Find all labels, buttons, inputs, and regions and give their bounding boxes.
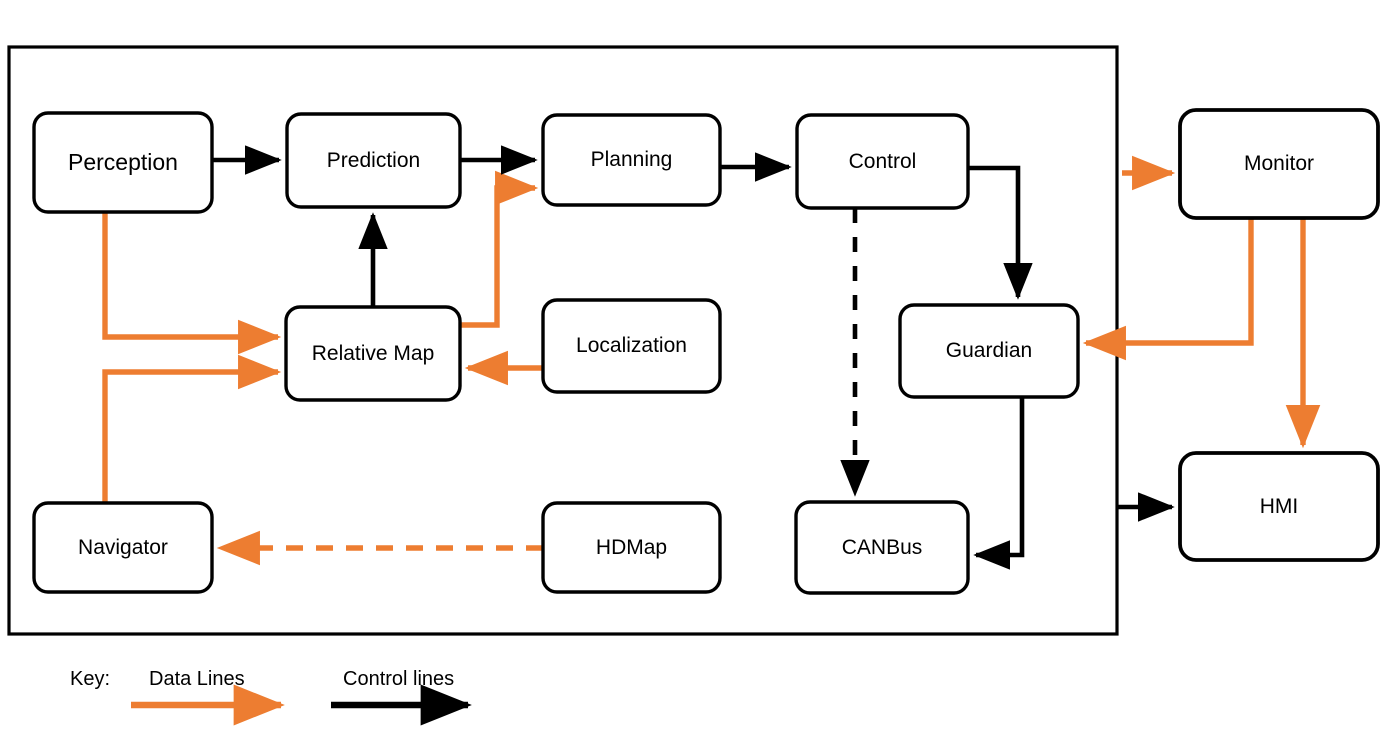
node-box-monitor[interactable] (1180, 110, 1378, 218)
edge-control-to-guardian (968, 168, 1018, 297)
edge-guardian-to-canbus (976, 397, 1022, 555)
node-box-control[interactable] (797, 115, 968, 208)
node-boxes (34, 110, 1378, 593)
diagram-canvas: Perception Prediction Planning Control M… (0, 0, 1398, 730)
edge-relative-map-to-planning (460, 188, 535, 325)
node-box-guardian[interactable] (900, 305, 1078, 397)
diagram-svg (0, 0, 1398, 730)
legend-control-lines-label: Control lines (343, 668, 454, 691)
node-box-prediction[interactable] (287, 114, 460, 207)
node-box-hdmap[interactable] (543, 503, 720, 592)
legend-data-lines-label: Data Lines (149, 668, 245, 691)
edge-navigator-to-relative-map (105, 372, 278, 503)
node-box-canbus[interactable] (796, 502, 968, 593)
node-box-perception[interactable] (34, 113, 212, 212)
node-box-hmi[interactable] (1180, 453, 1378, 560)
node-box-navigator[interactable] (34, 503, 212, 592)
node-box-relative-map[interactable] (286, 307, 460, 400)
edge-monitor-to-guardian (1086, 218, 1251, 343)
node-box-localization[interactable] (543, 300, 720, 392)
legend-key-label: Key: (70, 668, 110, 691)
edge-perception-to-relative-map (105, 212, 278, 337)
node-box-planning[interactable] (543, 115, 720, 205)
